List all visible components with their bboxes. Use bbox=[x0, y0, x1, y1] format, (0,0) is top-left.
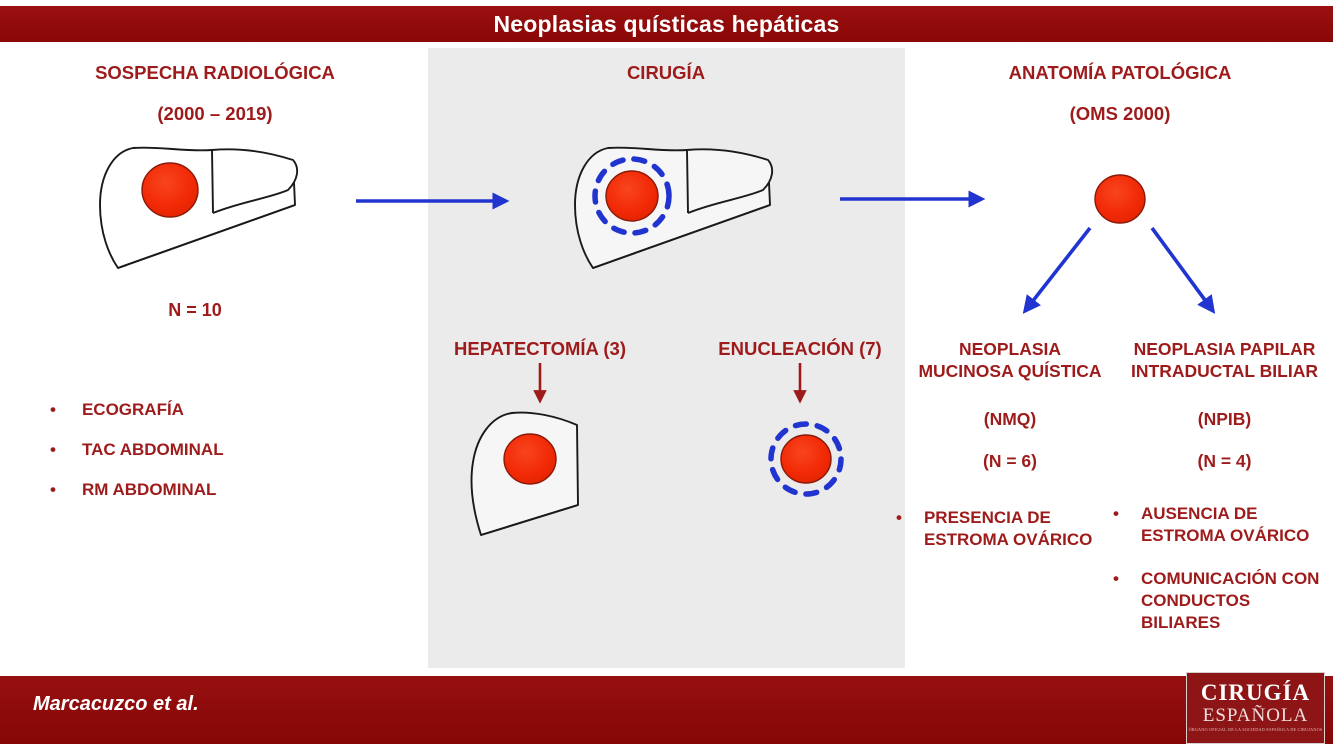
bullet-icon: • bbox=[50, 439, 56, 461]
bullet-icon: • bbox=[50, 399, 56, 421]
list-item: • COMUNICACIÓN CON CONDUCTOS BILIARES bbox=[1113, 568, 1333, 634]
diagnosis-nmq-name: NEOPLASIA MUCINOSA QUÍSTICA bbox=[910, 339, 1110, 383]
left-column-subtitle: (2000 – 2019) bbox=[55, 103, 375, 125]
diagnosis-nmq-abbr: (NMQ) bbox=[910, 409, 1110, 430]
diagnosis-npib-name-line1: NEOPLASIA PAPILAR bbox=[1122, 339, 1327, 361]
diagnosis-npib-count: (N = 4) bbox=[1122, 451, 1327, 472]
liver-with-tumor-icon bbox=[100, 148, 297, 268]
middle-column-title: CIRUGÍA bbox=[506, 62, 826, 84]
list-item-label: TAC ABDOMINAL bbox=[82, 439, 380, 461]
tumor-specimen-icon bbox=[1095, 175, 1145, 223]
list-item: • PRESENCIA DE ESTROMA OVÁRICO bbox=[896, 507, 1111, 551]
diagnosis-npib-name: NEOPLASIA PAPILAR INTRADUCTAL BILIAR bbox=[1122, 339, 1327, 383]
footer-author: Marcacuzco et al. bbox=[33, 693, 199, 716]
diagnosis-npib-abbr: (NPIB) bbox=[1122, 409, 1327, 430]
left-column-n-label: N = 10 bbox=[105, 300, 285, 321]
diagnosis-nmq-name-line1: NEOPLASIA bbox=[910, 339, 1110, 361]
bullet-icon: • bbox=[50, 479, 56, 501]
bullet-icon: • bbox=[1113, 568, 1119, 590]
journal-logo-line1: CIRUGÍA bbox=[1187, 681, 1324, 704]
list-item: • TAC ABDOMINAL bbox=[50, 439, 380, 461]
list-item: • AUSENCIA DE ESTROMA OVÁRICO bbox=[1113, 503, 1333, 547]
list-item-label: ECOGRAFÍA bbox=[82, 399, 380, 421]
footer-bar bbox=[0, 676, 1333, 744]
journal-logo: CIRUGÍA ESPAÑOLA ÓRGANO OFICIAL DE LA SO… bbox=[1186, 672, 1325, 744]
diagnosis-nmq-count: (N = 6) bbox=[910, 451, 1110, 472]
right-column-title: ANATOMÍA PATOLÓGICA bbox=[960, 62, 1280, 84]
list-item-label: COMUNICACIÓN CON CONDUCTOS BILIARES bbox=[1141, 568, 1333, 634]
list-item: • ECOGRAFÍA bbox=[50, 399, 380, 421]
list-item-label: RM ABDOMINAL bbox=[82, 479, 380, 501]
left-column-title: SOSPECHA RADIOLÓGICA bbox=[55, 62, 375, 84]
diagonal-down-left-arrow-icon bbox=[1025, 228, 1090, 311]
bullet-icon: • bbox=[1113, 503, 1119, 525]
list-item-label: PRESENCIA DE ESTROMA OVÁRICO bbox=[924, 507, 1111, 551]
list-item-label: AUSENCIA DE ESTROMA OVÁRICO bbox=[1141, 503, 1333, 547]
journal-logo-line2: ESPAÑOLA bbox=[1187, 706, 1324, 725]
bullet-icon: • bbox=[896, 507, 902, 529]
diagonal-down-right-arrow-icon bbox=[1152, 228, 1213, 311]
slide-canvas: Neoplasias quísticas hepáticas SOSPECHA … bbox=[0, 0, 1333, 744]
journal-logo-subtitle: ÓRGANO OFICIAL DE LA SOCIEDAD ESPAÑOLA D… bbox=[1187, 728, 1324, 732]
enucleation-label: ENUCLEACIÓN (7) bbox=[680, 338, 920, 360]
list-item: • RM ABDOMINAL bbox=[50, 479, 380, 501]
right-column-subtitle: (OMS 2000) bbox=[960, 103, 1280, 125]
diagnosis-nmq-name-line2: MUCINOSA QUÍSTICA bbox=[910, 361, 1110, 383]
page-title: Neoplasias quísticas hepáticas bbox=[0, 6, 1333, 42]
diagnosis-npib-name-line2: INTRADUCTAL BILIAR bbox=[1122, 361, 1327, 383]
hepatectomy-label: HEPATECTOMÍA (3) bbox=[420, 338, 660, 360]
